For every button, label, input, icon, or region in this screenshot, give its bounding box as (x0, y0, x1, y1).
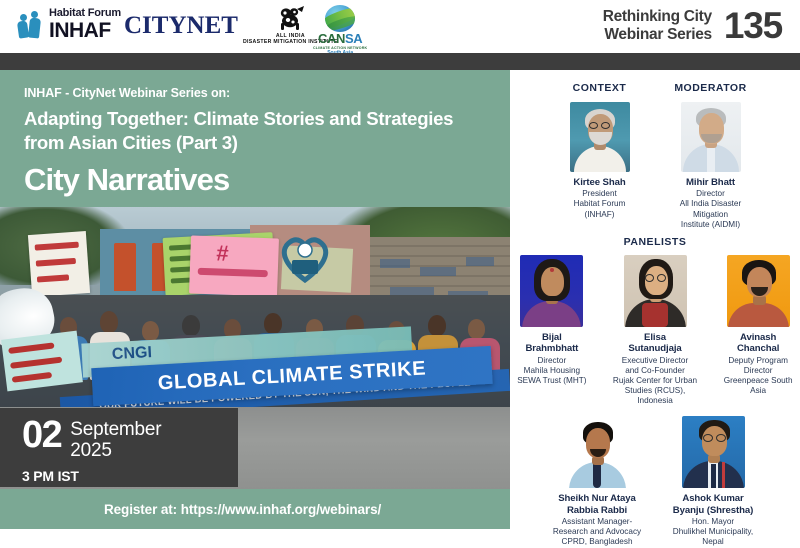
person-name: BijalBrahmbhatt (510, 332, 594, 355)
person-role: DirectorAll India Disaster MitigationIns… (668, 189, 753, 230)
aidmi-emblem-icon (275, 6, 305, 32)
cansa-word-b: SA (345, 31, 362, 46)
banner-cngi-text: CNGI (112, 344, 153, 364)
avatar (681, 102, 741, 172)
series-number: 135 (724, 7, 782, 44)
inhaf-people-icon (18, 10, 44, 40)
date-time: 3 PM IST (22, 468, 238, 484)
series-line1: Rethinking City (603, 8, 712, 25)
person-panelist-3: AvinashChanchal Deputy ProgramDirectorGr… (716, 255, 800, 406)
placard-climate-justice (28, 231, 90, 297)
placard-hashtag: # (189, 235, 279, 296)
date-month: September (70, 420, 161, 441)
moderator-label: MODERATOR (668, 82, 753, 94)
placard-cyan (1, 331, 83, 392)
cansa-logo: CANSA CLIMATE ACTION NETWORK South Asia (313, 5, 367, 56)
heart-placard-icon (278, 233, 332, 283)
person-name: Sheikh Nur AtayaRabbia Rabbi (549, 493, 645, 516)
panelists-row-2: Sheikh Nur AtayaRabbia Rabbi Assistant M… (510, 416, 800, 547)
date-day: 02 (22, 418, 61, 453)
person-context: Kirtee Shah PresidentHabitat Forum(INHAF… (557, 102, 642, 230)
banner-main-label: GLOBAL CLIMATE STRIKE (157, 357, 426, 395)
inhaf-tagline: Habitat Forum (49, 8, 121, 19)
inhaf-logo: Habitat Forum INHAF (18, 8, 121, 41)
avatar (727, 255, 790, 327)
person-panelist-2: ElisaSutanudjaja Executive Directorand C… (608, 255, 703, 406)
avatar (570, 102, 630, 172)
hero-subtitle: City Narratives (24, 162, 229, 198)
date-year: 2025 (70, 441, 161, 462)
header-divider (0, 53, 800, 70)
person-panelist-4: Sheikh Nur AtayaRabbia Rabbi Assistant M… (549, 416, 645, 547)
context-moderator-row: Kirtee Shah PresidentHabitat Forum(INHAF… (510, 102, 800, 230)
context-label: CONTEXT (557, 82, 642, 94)
avatar (566, 416, 629, 488)
series-line2: Webinar Series (603, 26, 712, 43)
panelists-row-1: BijalBrahmbhatt DirectorMahila HousingSE… (510, 255, 800, 406)
person-name: Ashok KumarByanju (Shrestha) (665, 493, 761, 516)
date-block: 02 September 2025 3 PM IST (0, 408, 238, 487)
logo-bar: Habitat Forum INHAF CITYNET (0, 0, 800, 53)
footer-bar: Register at: https://www.inhaf.org/webin… (0, 489, 510, 529)
hero-eyebrow: INHAF - CityNet Webinar Series on: (24, 86, 230, 100)
person-role: Executive Directorand Co-FounderRujak Ce… (608, 356, 703, 407)
person-moderator: Mihir Bhatt DirectorAll India Disaster M… (668, 102, 753, 230)
person-role: Assistant Manager-Research and AdvocacyC… (549, 517, 645, 548)
person-panelist-1: BijalBrahmbhatt DirectorMahila HousingSE… (510, 255, 594, 406)
avatar (624, 255, 687, 327)
panelists-label: PANELISTS (510, 236, 800, 248)
people-panel: CONTEXT MODERATOR Kirtee Shah P (510, 70, 800, 529)
hero-title: Adapting Together: Climate Stories and S… (24, 107, 494, 154)
avatar (520, 255, 583, 327)
person-role: DirectorMahila HousingSEWA Trust (MHT) (510, 356, 594, 387)
person-panelist-5: Ashok KumarByanju (Shrestha) Hon. MayorD… (665, 416, 761, 547)
context-moderator-headers: CONTEXT MODERATOR (510, 82, 800, 94)
person-role: Hon. MayorDhulikhel Municipality,Nepal (665, 517, 761, 548)
webinar-poster: Habitat Forum INHAF CITYNET (0, 0, 800, 529)
person-role: Deputy ProgramDirectorGreenpeace SouthAs… (716, 356, 800, 397)
person-name: AvinashChanchal (716, 332, 800, 355)
citynet-logo: CITYNET (124, 12, 238, 40)
inhaf-wordmark: INHAF (49, 20, 121, 41)
register-link[interactable]: Register at: https://www.inhaf.org/webin… (104, 502, 381, 517)
cansa-globe-icon (325, 5, 355, 32)
citynet-wordmark: CITYNET (124, 12, 238, 40)
cansa-wordmark: CANSA (318, 31, 362, 46)
person-name: Mihir Bhatt (668, 177, 753, 188)
person-name: Kirtee Shah (557, 177, 642, 188)
placard-hash-glyph: # (216, 242, 229, 264)
series-badge: Rethinking City Webinar Series 135 (603, 7, 782, 44)
person-role: PresidentHabitat Forum(INHAF) (557, 189, 642, 220)
cansa-word-a: CAN (318, 31, 345, 46)
avatar (682, 416, 745, 488)
person-name: ElisaSutanudjaja (608, 332, 703, 355)
